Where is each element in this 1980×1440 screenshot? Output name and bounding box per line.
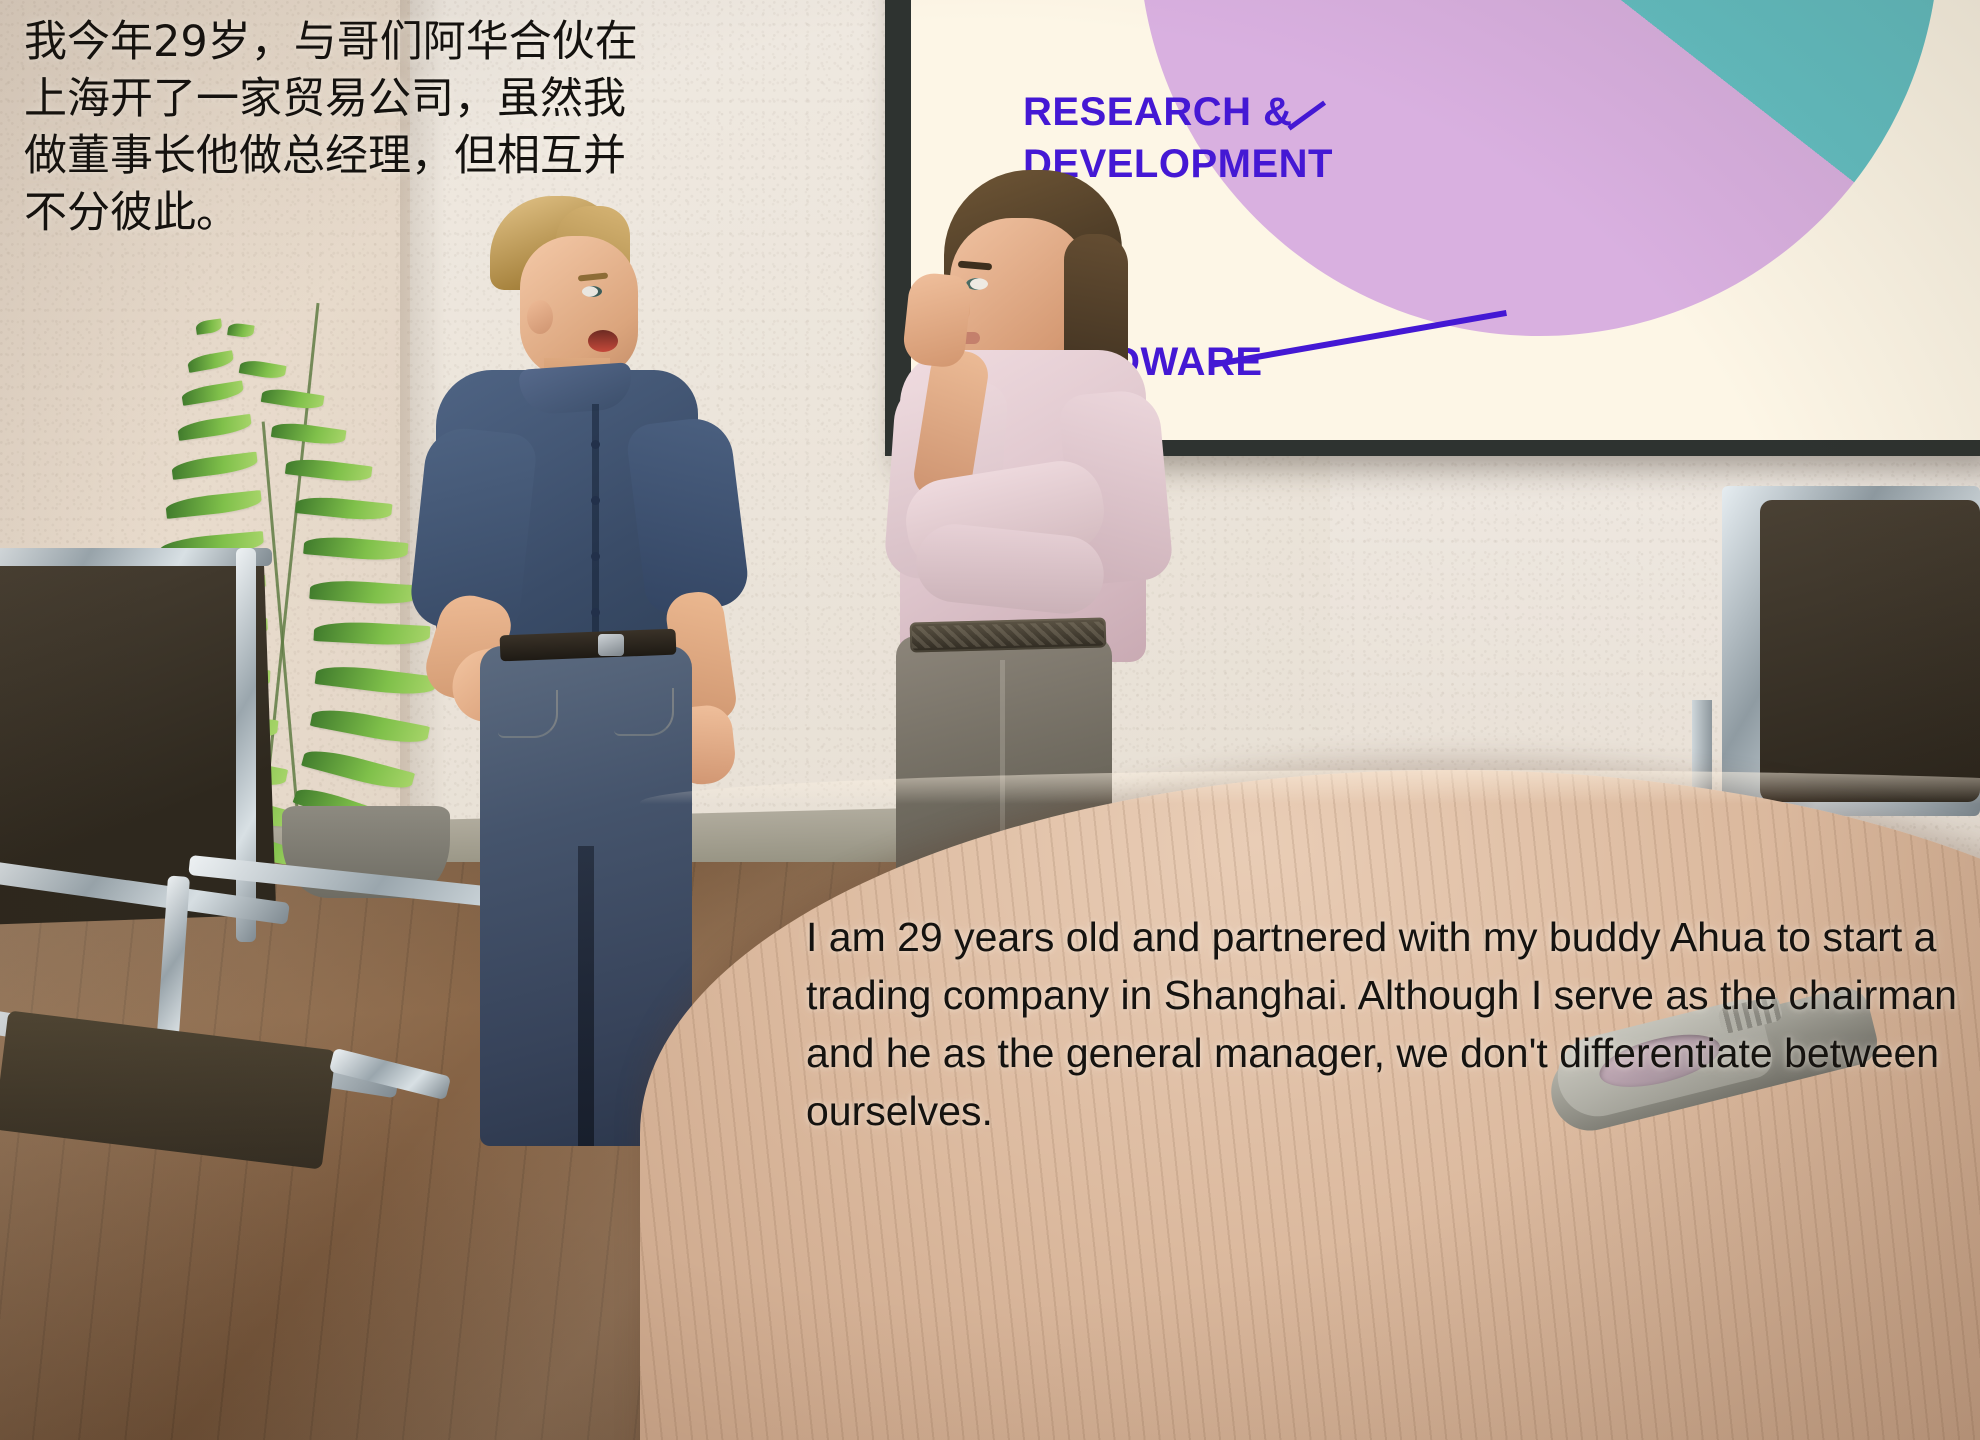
man-blue-ear <box>527 300 553 334</box>
scene-root: RESEARCH & DEVELOPMENT HARDWARE <box>0 0 1980 1440</box>
man-blue-jeans-pocket <box>498 690 558 738</box>
man-blue-shirt-button <box>591 440 600 449</box>
man-blue-belt-buckle <box>598 634 624 656</box>
man-blue-shirt-button <box>591 496 600 505</box>
man-blue-jeans-inseam <box>578 846 594 1146</box>
caption-chinese: 我今年29岁，与哥们阿华合伙在 上海开了一家贸易公司，虽然我 做董事长他做总经理… <box>24 14 764 242</box>
man-blue-shirt-button <box>591 608 600 617</box>
man-blue-eye <box>582 286 602 297</box>
man-pink-hand-at-chin <box>901 271 972 369</box>
man-blue-jeans-pocket <box>614 688 674 736</box>
man-blue-shirt-button <box>591 552 600 561</box>
chair-left-frame-top <box>0 548 272 566</box>
caption-english: I am 29 years old and partnered with my … <box>806 908 1966 1140</box>
man-blue-mouth <box>588 330 618 352</box>
monitor-screen <box>1760 500 1980 802</box>
chair-left-frame-side <box>236 548 256 942</box>
